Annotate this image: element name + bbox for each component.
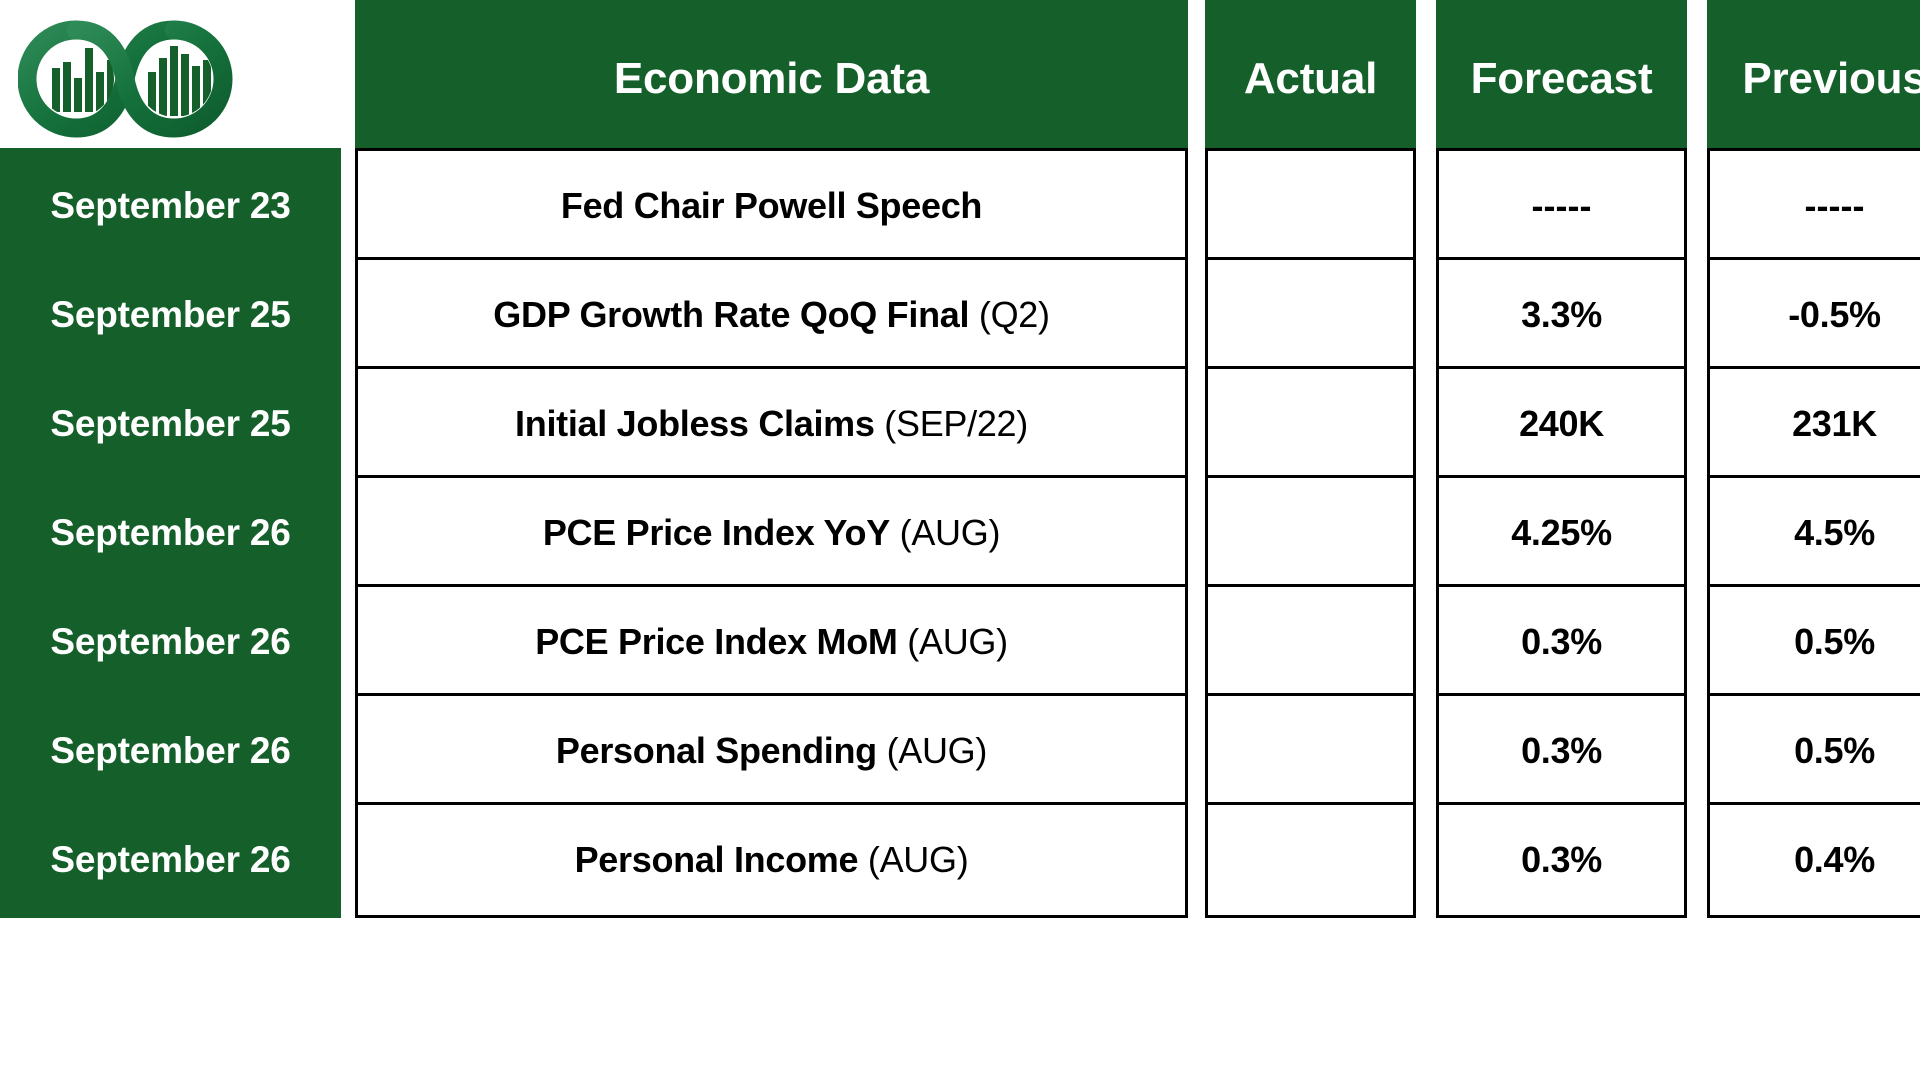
row-event-name: GDP Growth Rate QoQ Final: [493, 294, 969, 335]
row-previous-cell[interactable]: 0.4%: [1707, 802, 1920, 918]
row-date-cell: September 26: [0, 802, 341, 918]
row-event-cell[interactable]: PCE Price Index YoY (AUG): [355, 475, 1188, 591]
row-forecast-cell[interactable]: 4.25%: [1436, 475, 1687, 591]
row-previous-cell[interactable]: 231K: [1707, 366, 1920, 482]
row-forecast-value: 0.3%: [1521, 839, 1602, 881]
row-forecast-value: 4.25%: [1511, 512, 1612, 554]
row-actual-box: [1205, 693, 1416, 809]
row-actual-cell[interactable]: [1205, 366, 1416, 482]
row-previous-box: 0.5%: [1707, 584, 1920, 700]
row-event-label: GDP Growth Rate QoQ Final (Q2): [493, 294, 1049, 336]
header-event: Economic Data: [355, 0, 1188, 158]
header-actual: Actual: [1205, 0, 1416, 158]
row-event-label: PCE Price Index MoM (AUG): [535, 621, 1008, 663]
row-forecast-box: 240K: [1436, 366, 1687, 482]
row-event-name: Personal Income: [575, 839, 859, 880]
row-previous-value: -----: [1805, 185, 1865, 227]
row-forecast-cell[interactable]: -----: [1436, 148, 1687, 264]
row-date-cell: September 26: [0, 475, 341, 591]
row-date-label: September 26: [0, 475, 341, 591]
row-forecast-cell[interactable]: 0.3%: [1436, 802, 1687, 918]
row-previous-cell[interactable]: 4.5%: [1707, 475, 1920, 591]
row-event-cell[interactable]: Initial Jobless Claims (SEP/22): [355, 366, 1188, 482]
header-actual-label: Actual: [1205, 0, 1416, 158]
row-date-cell: September 23: [0, 148, 341, 264]
row-forecast-cell[interactable]: 0.3%: [1436, 584, 1687, 700]
row-event-box: PCE Price Index YoY (AUG): [355, 475, 1188, 591]
row-forecast-cell[interactable]: 240K: [1436, 366, 1687, 482]
row-event-box: Initial Jobless Claims (SEP/22): [355, 366, 1188, 482]
row-date-label: September 25: [0, 366, 341, 482]
row-forecast-cell[interactable]: 3.3%: [1436, 257, 1687, 373]
row-previous-value: 4.5%: [1794, 512, 1875, 554]
row-actual-box: [1205, 802, 1416, 918]
row-event-period: (AUG): [877, 730, 987, 771]
header-previous: Previous: [1707, 0, 1920, 158]
row-actual-cell[interactable]: [1205, 257, 1416, 373]
row-event-box: Fed Chair Powell Speech: [355, 148, 1188, 264]
row-date-cell: September 25: [0, 366, 341, 482]
row-previous-cell[interactable]: -----: [1707, 148, 1920, 264]
row-actual-cell[interactable]: [1205, 693, 1416, 809]
row-actual-cell[interactable]: [1205, 584, 1416, 700]
header-event-label: Economic Data: [355, 0, 1188, 158]
row-date-cell: September 25: [0, 257, 341, 373]
row-actual-box: [1205, 148, 1416, 264]
row-actual-cell[interactable]: [1205, 148, 1416, 264]
row-date-label: September 26: [0, 693, 341, 809]
row-forecast-box: 0.3%: [1436, 584, 1687, 700]
row-previous-box: -0.5%: [1707, 257, 1920, 373]
row-date-cell: September 26: [0, 584, 341, 700]
infinity-bar-chart-logo: [18, 20, 233, 138]
row-previous-box: 0.4%: [1707, 802, 1920, 918]
row-event-period: (AUG): [858, 839, 968, 880]
row-forecast-value: 0.3%: [1521, 730, 1602, 772]
row-event-box: GDP Growth Rate QoQ Final (Q2): [355, 257, 1188, 373]
row-previous-cell[interactable]: -0.5%: [1707, 257, 1920, 373]
row-actual-box: [1205, 475, 1416, 591]
row-forecast-cell[interactable]: 0.3%: [1436, 693, 1687, 809]
row-previous-box: -----: [1707, 148, 1920, 264]
row-event-name: PCE Price Index YoY: [543, 512, 890, 553]
row-event-label: Personal Spending (AUG): [556, 730, 987, 772]
economic-calendar-table: Economic Data Actual Forecast Previous S…: [0, 0, 1920, 1080]
row-event-label: Personal Income (AUG): [575, 839, 969, 881]
row-previous-value: 231K: [1792, 403, 1877, 445]
row-previous-value: 0.5%: [1794, 730, 1875, 772]
row-date-label: September 26: [0, 802, 341, 918]
header-forecast: Forecast: [1436, 0, 1687, 158]
row-event-box: Personal Income (AUG): [355, 802, 1188, 918]
table-header-row: Economic Data Actual Forecast Previous: [0, 0, 1920, 158]
row-event-label: PCE Price Index YoY (AUG): [543, 512, 1000, 554]
row-event-period: (Q2): [969, 294, 1050, 335]
row-event-name: Initial Jobless Claims: [515, 403, 875, 444]
row-previous-cell[interactable]: 0.5%: [1707, 584, 1920, 700]
row-event-cell[interactable]: Personal Spending (AUG): [355, 693, 1188, 809]
row-forecast-box: 0.3%: [1436, 802, 1687, 918]
row-previous-box: 0.5%: [1707, 693, 1920, 809]
row-previous-value: 0.4%: [1794, 839, 1875, 881]
row-forecast-box: 0.3%: [1436, 693, 1687, 809]
row-event-name: PCE Price Index MoM: [535, 621, 897, 662]
row-event-name: Personal Spending: [556, 730, 877, 771]
row-event-cell[interactable]: Fed Chair Powell Speech: [355, 148, 1188, 264]
header-previous-label: Previous: [1707, 0, 1920, 158]
row-event-period: (SEP/22): [875, 403, 1028, 444]
row-event-box: PCE Price Index MoM (AUG): [355, 584, 1188, 700]
row-previous-cell[interactable]: 0.5%: [1707, 693, 1920, 809]
row-actual-box: [1205, 257, 1416, 373]
row-forecast-box: -----: [1436, 148, 1687, 264]
row-event-cell[interactable]: Personal Income (AUG): [355, 802, 1188, 918]
row-forecast-box: 3.3%: [1436, 257, 1687, 373]
row-forecast-box: 4.25%: [1436, 475, 1687, 591]
row-event-box: Personal Spending (AUG): [355, 693, 1188, 809]
row-forecast-value: 3.3%: [1521, 294, 1602, 336]
row-event-period: (AUG): [898, 621, 1008, 662]
row-forecast-value: -----: [1532, 185, 1592, 227]
row-event-label: Fed Chair Powell Speech: [561, 185, 982, 227]
row-event-cell[interactable]: PCE Price Index MoM (AUG): [355, 584, 1188, 700]
row-actual-cell[interactable]: [1205, 475, 1416, 591]
brand-logo-cell: [0, 0, 341, 158]
row-date-label: September 23: [0, 148, 341, 264]
row-actual-cell[interactable]: [1205, 802, 1416, 918]
table-row[interactable]: September 26Personal Income (AUG)0.3%0.4…: [0, 802, 1920, 936]
row-previous-value: -0.5%: [1788, 294, 1881, 336]
row-previous-box: 231K: [1707, 366, 1920, 482]
row-event-label: Initial Jobless Claims (SEP/22): [515, 403, 1028, 445]
row-actual-box: [1205, 366, 1416, 482]
row-event-period: (AUG): [890, 512, 1000, 553]
row-date-label: September 25: [0, 257, 341, 373]
row-previous-value: 0.5%: [1794, 621, 1875, 663]
row-event-cell[interactable]: GDP Growth Rate QoQ Final (Q2): [355, 257, 1188, 373]
row-event-name: Fed Chair Powell Speech: [561, 185, 982, 226]
header-forecast-label: Forecast: [1436, 0, 1687, 158]
row-date-cell: September 26: [0, 693, 341, 809]
row-previous-box: 4.5%: [1707, 475, 1920, 591]
row-forecast-value: 0.3%: [1521, 621, 1602, 663]
row-date-label: September 26: [0, 584, 341, 700]
row-forecast-value: 240K: [1519, 403, 1604, 445]
row-actual-box: [1205, 584, 1416, 700]
